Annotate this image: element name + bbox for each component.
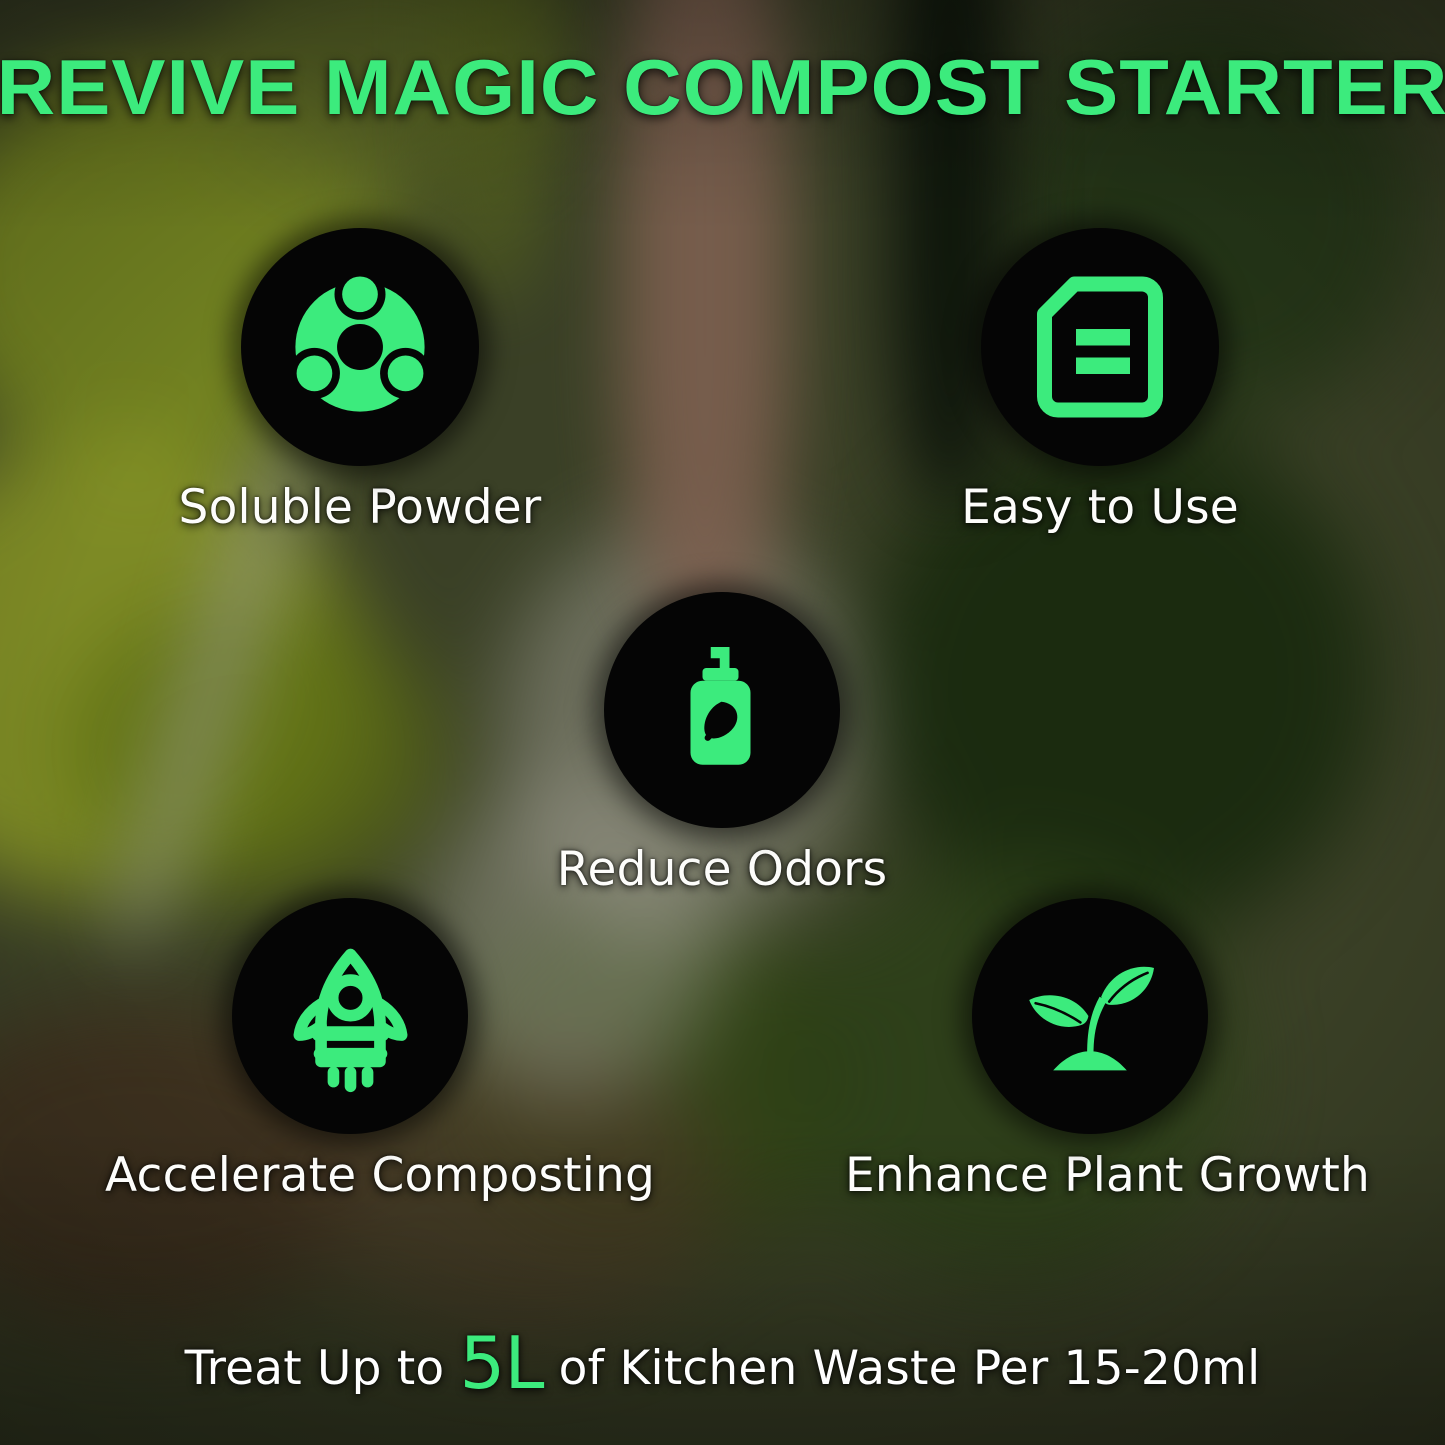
document-icon <box>1025 272 1175 422</box>
feature-icon-badge <box>241 228 479 466</box>
feature-icon-badge <box>232 898 468 1134</box>
footnote-before: Treat Up to <box>185 1341 460 1396</box>
feature-reduce-odors: Reduce Odors <box>482 592 962 897</box>
spray-bottle-leaf-icon <box>647 635 797 785</box>
feature-label: Reduce Odors <box>482 844 962 897</box>
rocket-icon <box>273 939 428 1094</box>
seedling-icon <box>1010 936 1170 1096</box>
footnote-highlight: 5L <box>460 1321 544 1405</box>
feature-accelerate-composting: Accelerate Composting <box>105 898 595 1203</box>
feature-soluble-powder: Soluble Powder <box>120 228 600 535</box>
feature-enhance-plant-growth: Enhance Plant Growth <box>845 898 1335 1203</box>
footnote-after: of Kitchen Waste Per 15-20ml <box>543 1341 1260 1396</box>
feature-label: Easy to Use <box>860 482 1340 535</box>
product-infographic: REVIVE MAGIC COMPOST STARTER <box>0 0 1445 1445</box>
feature-label: Soluble Powder <box>120 482 600 535</box>
feature-label: Accelerate Composting <box>105 1150 595 1203</box>
feature-icon-badge <box>981 228 1219 466</box>
soluble-powder-icon <box>275 262 445 432</box>
dosage-footnote: Treat Up to 5L of Kitchen Waste Per 15-2… <box>0 1343 1445 1395</box>
page-title: REVIVE MAGIC COMPOST STARTER <box>0 48 1445 126</box>
feature-label: Enhance Plant Growth <box>845 1150 1335 1203</box>
feature-icon-badge <box>972 898 1208 1134</box>
feature-icon-badge <box>604 592 840 828</box>
feature-easy-to-use: Easy to Use <box>860 228 1340 535</box>
